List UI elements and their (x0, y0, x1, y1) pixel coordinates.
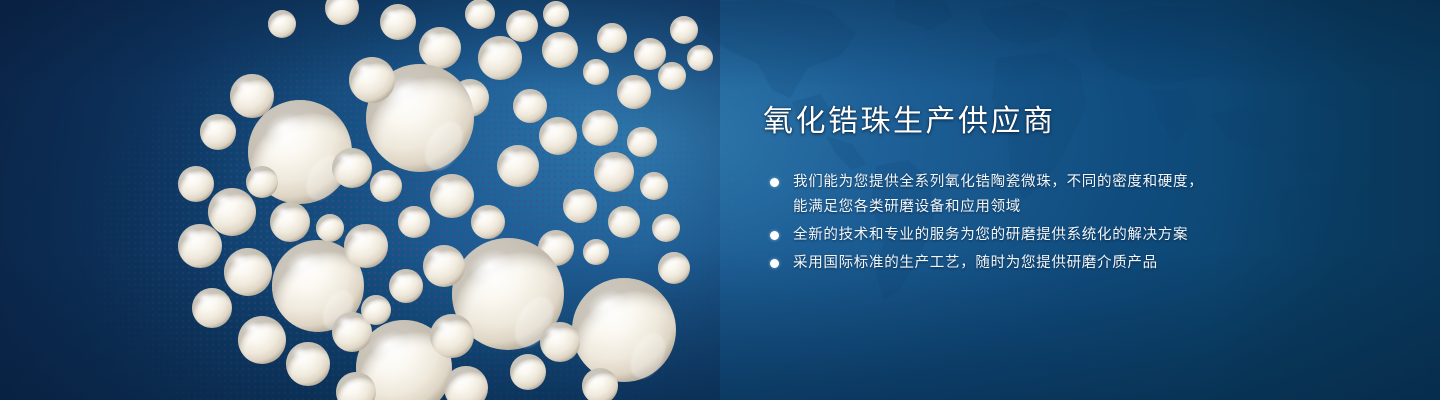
list-item: 我们能为您提供全系列氧化锆陶瓷微珠，不同的密度和硬度， 能满足您各类研磨设备和应… (763, 170, 1363, 220)
banner-copy: 氧化锆珠生产供应商 我们能为您提供全系列氧化锆陶瓷微珠，不同的密度和硬度， 能满… (763, 104, 1363, 279)
list-item: 全新的技术和专业的服务为您的研磨提供系统化的解决方案 (763, 223, 1363, 248)
feature-text-line2: 能满足您各类研磨设备和应用领域 (793, 195, 1363, 220)
hero-banner: 氧化锆珠生产供应商 我们能为您提供全系列氧化锆陶瓷微珠，不同的密度和硬度， 能满… (0, 0, 1440, 400)
list-item: 采用国际标准的生产工艺，随时为您提供研磨介质产品 (763, 251, 1363, 276)
zirconia-beads-image (0, 0, 760, 400)
feature-text-line1: 我们能为您提供全系列氧化锆陶瓷微珠，不同的密度和硬度， (793, 174, 1203, 190)
feature-text-line1: 全新的技术和专业的服务为您的研磨提供系统化的解决方案 (793, 227, 1188, 243)
page-title: 氧化锆珠生产供应商 (763, 104, 1363, 140)
feature-text-line1: 采用国际标准的生产工艺，随时为您提供研磨介质产品 (793, 255, 1158, 271)
feature-list: 我们能为您提供全系列氧化锆陶瓷微珠，不同的密度和硬度， 能满足您各类研磨设备和应… (763, 170, 1363, 276)
